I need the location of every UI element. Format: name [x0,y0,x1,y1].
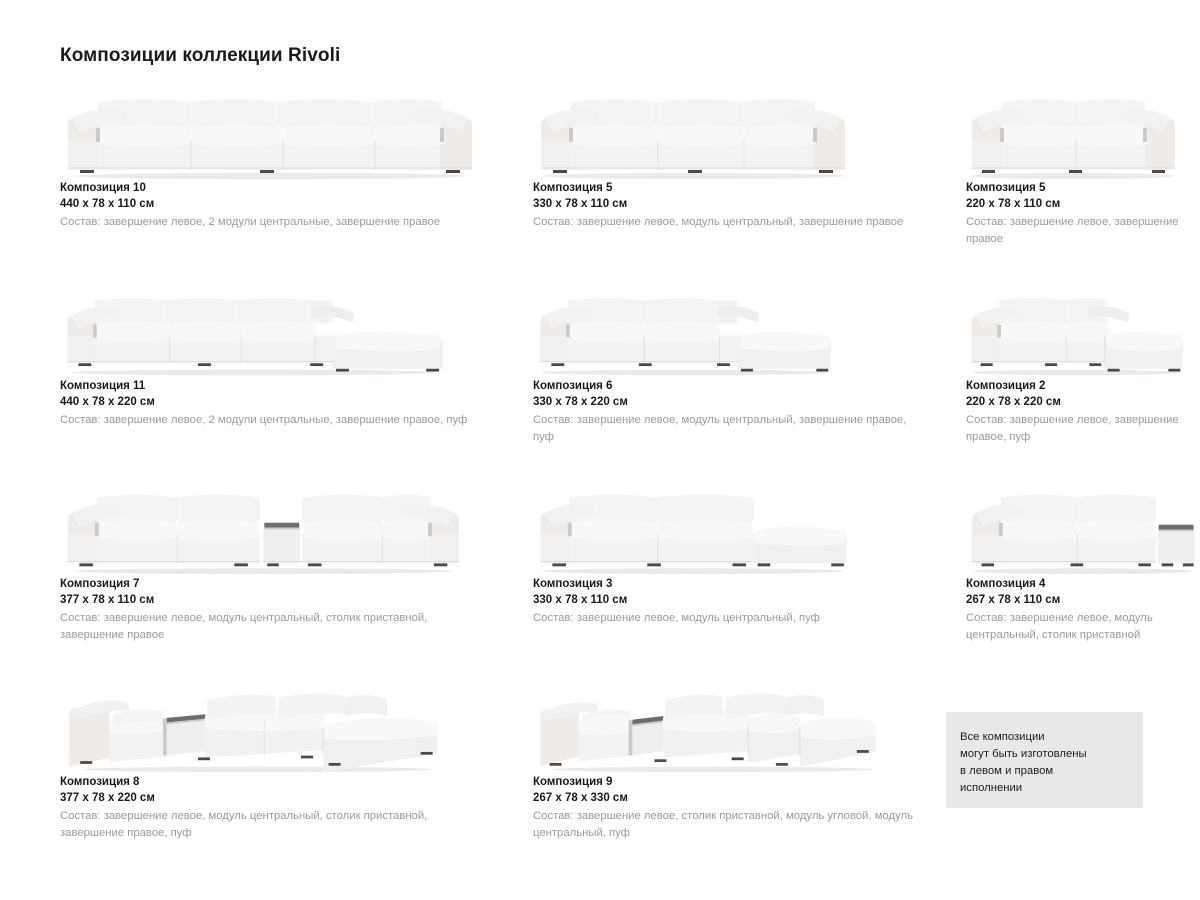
composition-description: Состав: завершение левое, модуль централ… [533,214,913,231]
composition-name: Композиция 5 [966,180,1200,196]
catalog-page: Композиции коллекции Rivoli [0,0,1200,900]
composition-dimensions: 267 x 78 x 330 см [533,790,913,806]
sofa-2seat-with-table-icon [966,484,1200,576]
composition-name: Композиция 5 [533,180,913,196]
composition-dimensions: 267 x 78 x 110 см [966,592,1200,608]
composition-card[interactable]: Композиция 8 377 x 78 x 220 см Состав: з… [60,682,480,880]
composition-card[interactable]: Композиция 5 330 x 78 x 110 см Состав: з… [533,88,913,286]
composition-name: Композиция 3 [533,576,913,592]
note-line: в левом и правом [960,763,1143,780]
composition-description: Состав: завершение левое, завершение пра… [966,412,1200,445]
sofa-2seat-with-ottoman-low-icon [533,484,913,576]
composition-name: Композиция 11 [60,378,480,394]
composition-name: Композиция 8 [60,774,480,790]
composition-description: Состав: завершение левое, завершение пра… [966,214,1200,247]
note-line: исполнении [960,780,1143,797]
sofa-2seat-with-ottoman-icon [966,286,1200,378]
composition-dimensions: 330 x 78 x 110 см [533,196,913,212]
composition-description: Состав: завершение левое, модуль централ… [966,610,1200,643]
composition-description: Состав: завершение левое, модуль централ… [533,610,913,627]
page-title: Композиции коллекции Rivoli [60,45,340,67]
sofa-3seat-straight-icon [533,88,913,180]
composition-card[interactable]: Композиция 5 220 x 78 x 110 см Состав: з… [966,88,1200,286]
composition-description: Состав: завершение левое, модуль централ… [533,412,913,445]
composition-card[interactable]: Композиция 10 440 x 78 x 110 см Состав: … [60,88,480,286]
composition-card[interactable]: Композиция 7 377 x 78 x 110 см Состав: з… [60,484,480,682]
sofa-corner-with-table-and-ottoman-icon [60,682,480,774]
composition-description: Состав: завершение левое, 2 модули центр… [60,214,480,231]
sofa-4seat-straight-icon [60,88,480,180]
composition-card[interactable]: Композиция 6 330 x 78 x 220 см Состав: з… [533,286,913,484]
composition-card[interactable]: Композиция 4 267 x 78 x 110 см Состав: з… [966,484,1200,682]
composition-dimensions: 330 x 78 x 220 см [533,394,913,410]
composition-dimensions: 330 x 78 x 110 см [533,592,913,608]
sofa-3seat-with-ottoman-icon [533,286,913,378]
composition-dimensions: 440 x 78 x 220 см [60,394,480,410]
composition-name: Композиция 7 [60,576,480,592]
composition-name: Композиция 2 [966,378,1200,394]
composition-card[interactable]: Композиция 9 267 x 78 x 330 см Состав: з… [533,682,913,880]
composition-card[interactable]: Композиция 2 220 x 78 x 220 см Состав: з… [966,286,1200,484]
composition-name: Композиция 10 [60,180,480,196]
composition-dimensions: 220 x 78 x 110 см [966,196,1200,212]
composition-description: Состав: завершение левое, 2 модули центр… [60,412,480,429]
composition-dimensions: 377 x 78 x 220 см [60,790,480,806]
composition-card[interactable]: Композиция 11 440 x 78 x 220 см Состав: … [60,286,480,484]
note-line: Все композиции [960,729,1143,746]
composition-name: Композиция 4 [966,576,1200,592]
composition-dimensions: 220 x 78 x 220 см [966,394,1200,410]
composition-description: Состав: завершение левое, модуль централ… [60,808,480,841]
composition-dimensions: 377 x 78 x 110 см [60,592,480,608]
sofa-3seat-with-table-icon [60,484,480,576]
note-box: Все композиции могут быть изготовлены в … [946,712,1143,808]
sofa-4seat-with-ottoman-icon [60,286,480,378]
composition-description: Состав: завершение левое, столик пристав… [533,808,913,841]
composition-name: Композиция 6 [533,378,913,394]
composition-dimensions: 440 x 78 x 110 см [60,196,480,212]
note-line: могут быть изготовлены [960,746,1143,763]
sofa-2seat-straight-icon [966,88,1200,180]
composition-card[interactable]: Композиция 3 330 x 78 x 110 см Состав: з… [533,484,913,682]
composition-description: Состав: завершение левое, модуль централ… [60,610,480,643]
sofa-corner-large-with-ottoman-icon [533,682,913,774]
composition-name: Композиция 9 [533,774,913,790]
